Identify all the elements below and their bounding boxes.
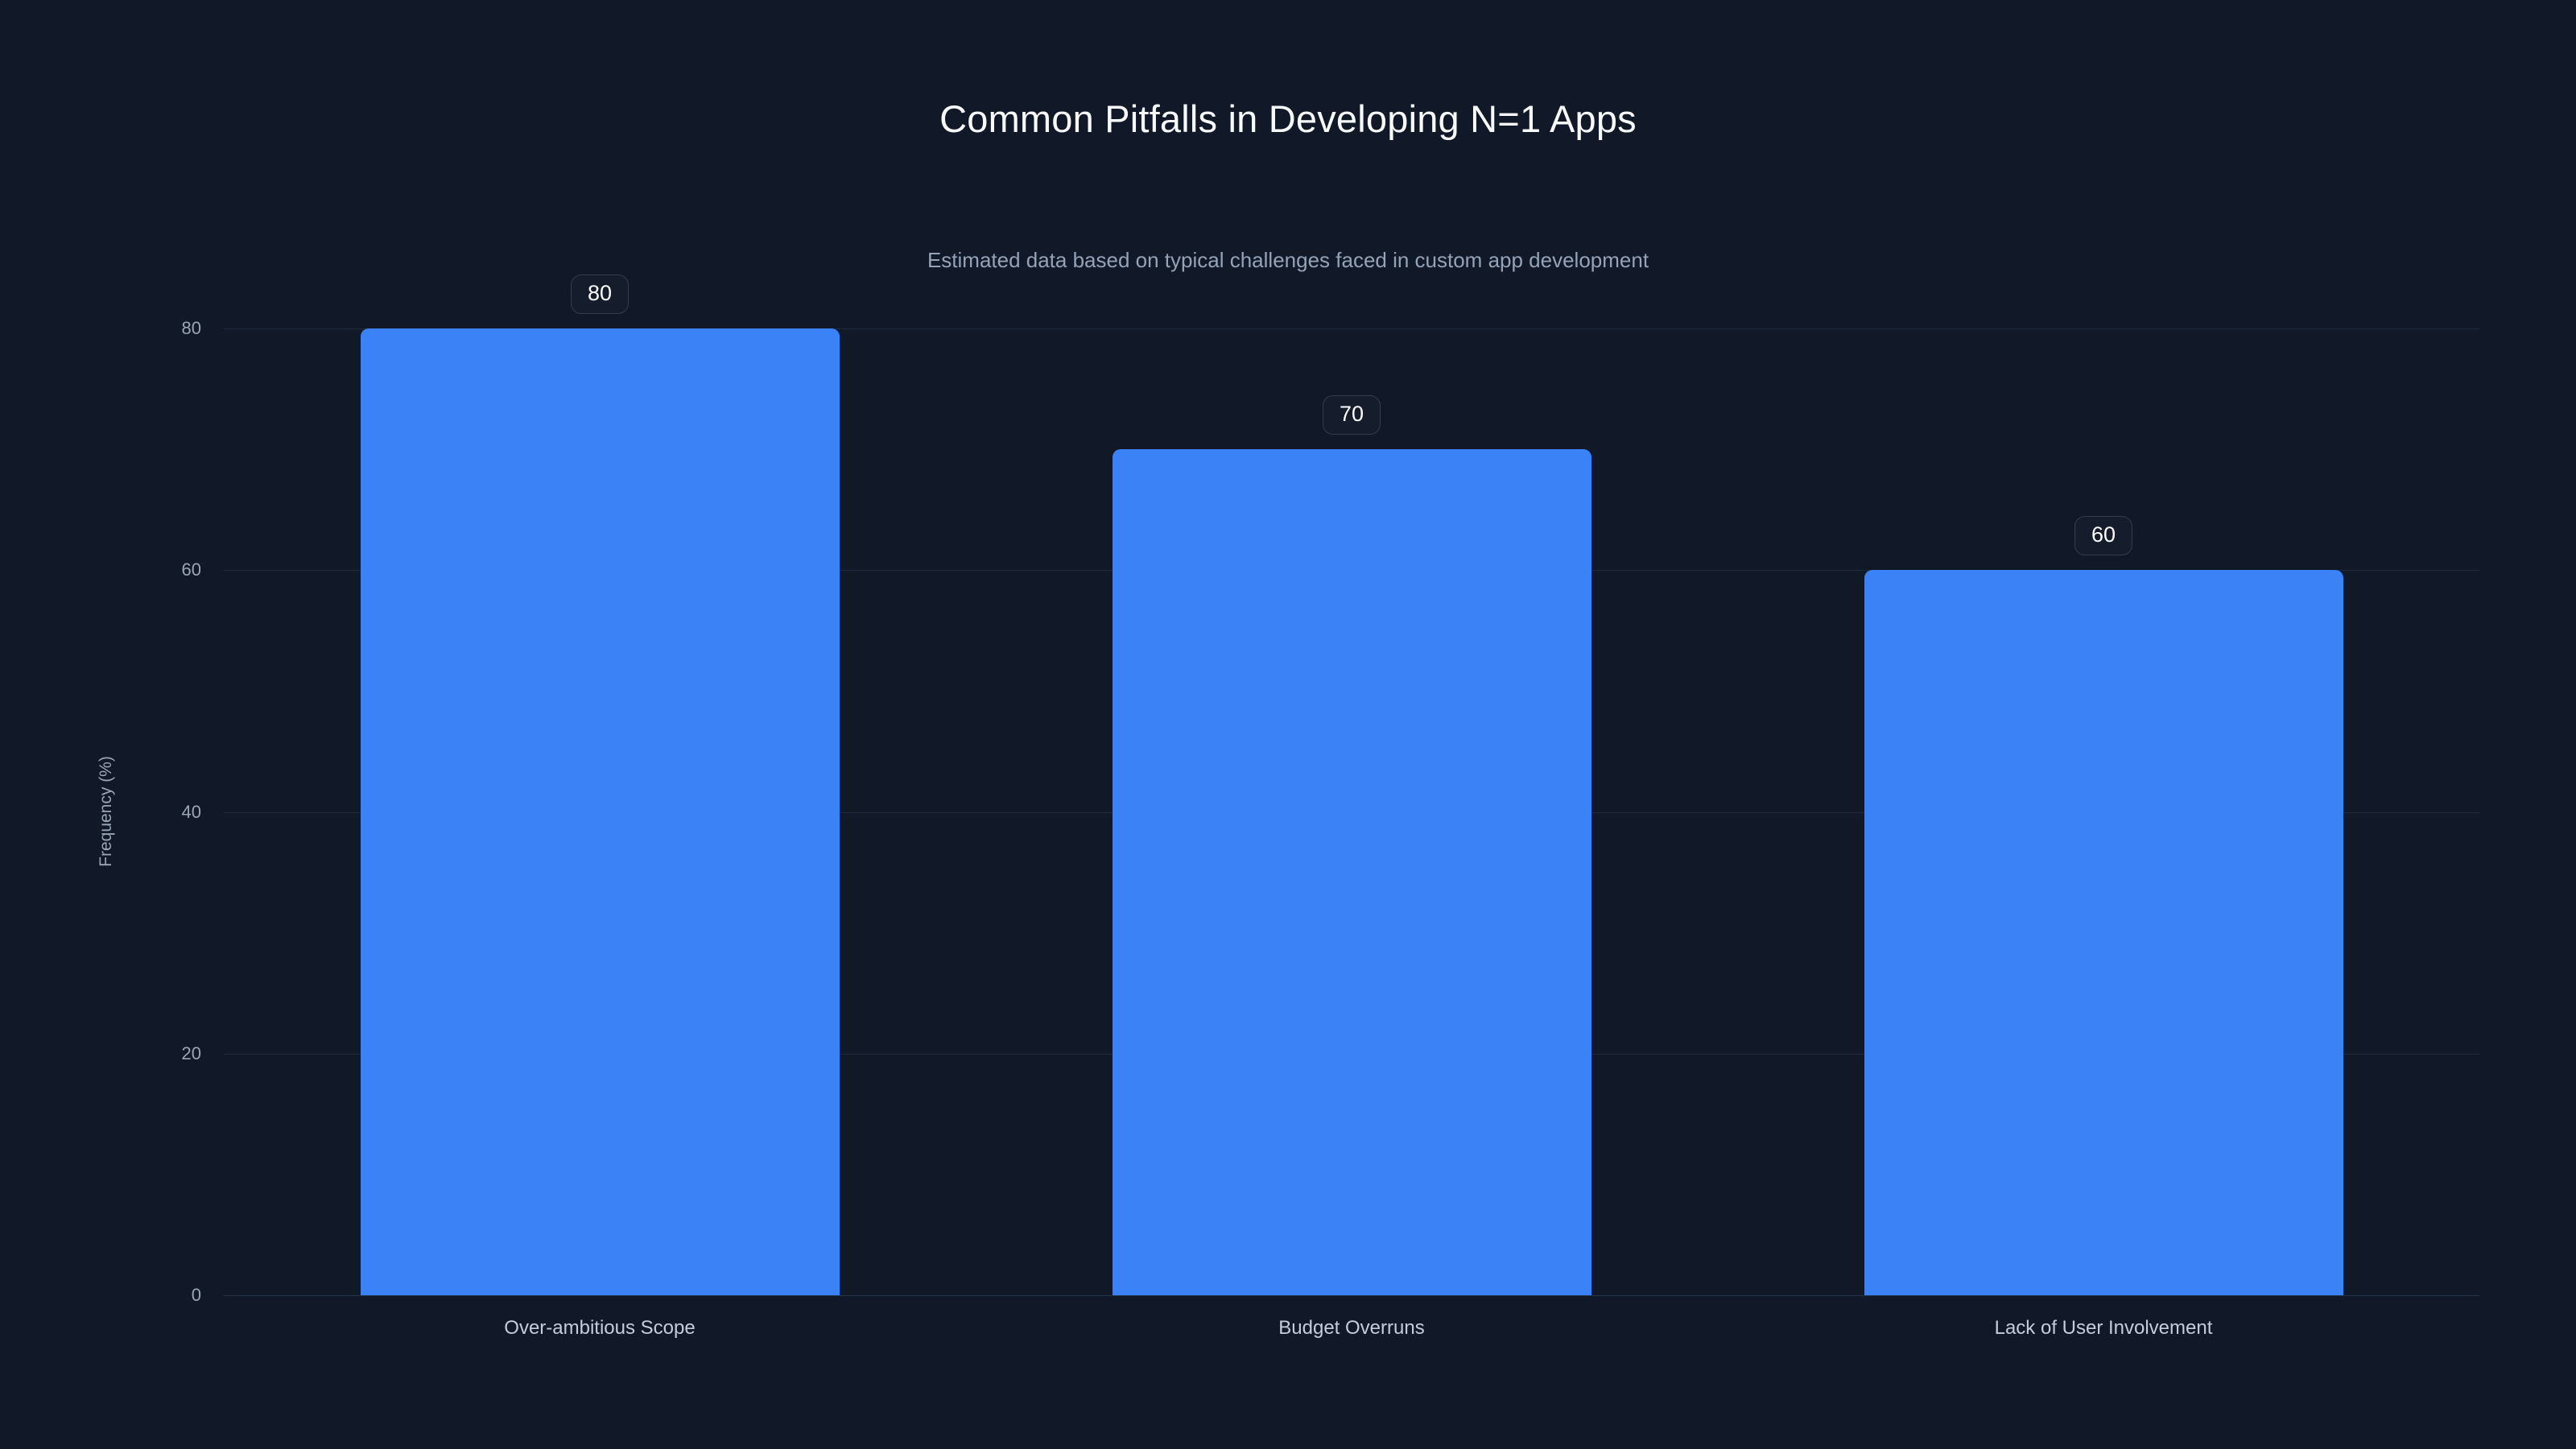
bar-value-badge: 60 xyxy=(2074,516,2132,555)
y-axis-tick-label: 60 xyxy=(129,559,201,580)
y-axis-tick-label: 80 xyxy=(129,318,201,339)
x-axis-category-label: Budget Overruns xyxy=(1278,1317,1424,1340)
x-axis-category-label: Over-ambitious Scope xyxy=(504,1317,695,1340)
x-axis-category-label: Lack of User Involvement xyxy=(1995,1317,2213,1340)
bar[interactable] xyxy=(1113,449,1591,1295)
y-axis-tick-label: 0 xyxy=(129,1285,201,1306)
plot-area: 020406080 xyxy=(224,328,2479,1295)
bar[interactable] xyxy=(1864,570,2343,1295)
gridline xyxy=(224,1295,2479,1296)
bar-value-badge: 70 xyxy=(1323,395,1381,435)
y-axis-tick-label: 20 xyxy=(129,1043,201,1064)
chart-title: Common Pitfalls in Developing N=1 Apps xyxy=(0,97,2576,141)
bar-value-badge: 80 xyxy=(571,275,629,314)
bar[interactable] xyxy=(361,328,840,1295)
bar-chart-canvas: Common Pitfalls in Developing N=1 Apps E… xyxy=(0,0,2576,1449)
chart-subtitle: Estimated data based on typical challeng… xyxy=(0,248,2576,273)
y-axis-title: Frequency (%) xyxy=(97,756,116,867)
y-axis-tick-label: 40 xyxy=(129,802,201,823)
